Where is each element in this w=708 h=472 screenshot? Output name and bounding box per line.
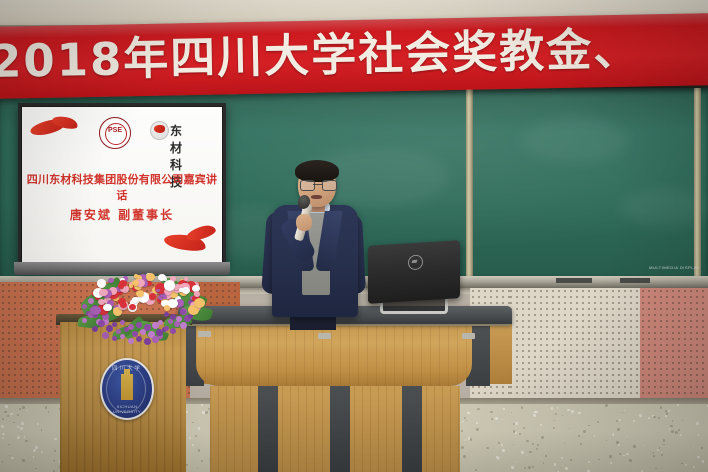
floor-speckle: [616, 420, 618, 422]
floor-speckle: [22, 459, 25, 462]
floor-speckle: [463, 455, 466, 458]
chalkboard-smudge: [520, 118, 630, 163]
floor-speckle: [554, 463, 556, 465]
floor-speckle: [192, 444, 194, 446]
floor-speckle: [461, 430, 462, 431]
floor-speckle: [33, 449, 36, 452]
floor-speckle: [519, 433, 521, 435]
floor-speckle: [465, 439, 467, 441]
floor-speckle: [201, 460, 203, 462]
bouquet-orchid: [92, 326, 98, 332]
floor-speckle: [677, 404, 679, 406]
floor-speckle: [698, 434, 699, 435]
floor-speckle: [561, 457, 563, 459]
floor-speckle: [580, 443, 582, 445]
floor-speckle: [663, 444, 664, 445]
floor-speckle: [486, 447, 489, 450]
floor-speckle: [562, 465, 563, 466]
floor-speckle: [567, 409, 570, 412]
floor-speckle: [515, 432, 517, 434]
floor-speckle: [624, 410, 625, 411]
bouquet-orchid: [164, 326, 169, 331]
floor-speckle: [521, 451, 524, 454]
floor-speckle: [503, 408, 505, 410]
floor-speckle: [4, 411, 7, 414]
floor-speckle: [551, 407, 554, 410]
floor-speckle: [557, 407, 558, 408]
floor-speckle: [466, 420, 467, 421]
cpse-seal-icon: PSE: [99, 117, 131, 149]
floor-speckle: [633, 445, 636, 448]
desk-front-panel: [196, 324, 472, 386]
bouquet-flower: [118, 283, 125, 289]
floor-speckle: [633, 420, 636, 423]
floor-speckle: [653, 452, 654, 453]
floor-speckle: [626, 453, 629, 456]
floor-speckle: [653, 416, 655, 418]
bouquet-orchid: [176, 316, 182, 322]
floor-speckle: [41, 451, 43, 453]
emblem-english-text: SICHUAN UNIVERSITY: [102, 404, 152, 414]
bouquet-flower: [194, 291, 200, 297]
chalkboard-seam-left: [466, 88, 473, 280]
floor-speckle: [570, 459, 572, 461]
bouquet-flower: [98, 299, 105, 305]
floor-speckle: [532, 443, 535, 446]
floor-speckle: [45, 406, 48, 409]
floor-speckle: [594, 435, 596, 437]
floor-speckle: [598, 459, 599, 460]
floor-speckle: [657, 449, 659, 451]
floor-speckle: [588, 461, 590, 463]
floor-speckle: [672, 420, 673, 421]
floor-speckle: [565, 467, 568, 470]
floor-speckle: [648, 417, 650, 419]
bouquet-orchid: [144, 338, 151, 345]
floor-speckle: [461, 446, 464, 449]
floor-speckle: [701, 447, 703, 449]
floor-speckle: [497, 457, 500, 460]
floor-speckle: [535, 411, 538, 414]
floor-speckle: [613, 433, 614, 434]
floor-speckle: [26, 410, 27, 411]
floor-speckle: [597, 421, 599, 423]
floor-speckle: [11, 457, 14, 460]
floor-speckle: [681, 463, 682, 464]
floral-arrangement: [78, 264, 206, 339]
floor-speckle: [605, 404, 608, 407]
dell-logo-icon: [408, 254, 423, 270]
floor-speckle: [1, 425, 4, 428]
floor-speckle: [25, 440, 27, 442]
floor-speckle: [680, 434, 682, 436]
floor-speckle: [189, 437, 191, 439]
floor-speckle: [498, 442, 500, 444]
floor-speckle: [195, 435, 197, 437]
floor-speckle: [9, 455, 10, 456]
floor-speckle: [524, 467, 527, 470]
bouquet-orchid: [152, 336, 159, 343]
floor-speckle: [35, 468, 36, 469]
bouquet-flower: [149, 293, 156, 300]
floor-speckle: [569, 428, 570, 429]
acoustic-panel-salmon: [640, 288, 708, 400]
bouquet-flower: [146, 273, 155, 281]
floor-speckle: [516, 462, 517, 463]
bouquet-flower: [136, 290, 144, 297]
floor-speckle: [545, 449, 546, 450]
bouquet-orchid: [136, 336, 142, 342]
floor-speckle: [639, 414, 642, 417]
floor-speckle: [2, 437, 4, 439]
floor-speckle: [669, 428, 670, 429]
floor-speckle: [670, 425, 672, 427]
glasses-icon: [300, 180, 335, 189]
floor-speckle: [626, 436, 627, 437]
floor-speckle: [685, 464, 687, 466]
floor-speckle: [537, 444, 539, 446]
bouquet-orchid: [82, 304, 87, 309]
floor-speckle: [2, 433, 5, 436]
floor-speckle: [532, 466, 534, 468]
floor-speckle: [619, 453, 621, 455]
floor-speckle: [526, 440, 529, 443]
chalkboard-seam-right: [694, 88, 701, 280]
floor-speckle: [205, 411, 208, 414]
bouquet-orchid: [180, 309, 186, 315]
floor-speckle: [201, 404, 203, 406]
floor-speckle: [663, 439, 666, 442]
floor-speckle: [476, 428, 479, 431]
floor-speckle: [540, 424, 542, 426]
floor-speckle: [495, 417, 498, 420]
glasses-lens-right: [322, 180, 337, 191]
floor-speckle: [10, 413, 12, 415]
floor-speckle: [696, 422, 699, 425]
floor-speckle: [186, 464, 188, 466]
bouquet-orchid: [152, 322, 159, 329]
floor-speckle: [35, 446, 38, 449]
floor-speckle: [588, 425, 589, 426]
bouquet-orchid: [140, 329, 146, 335]
floor-speckle: [502, 449, 505, 452]
floor-speckle: [528, 466, 531, 469]
floor-speckle: [564, 443, 565, 444]
floor-speckle: [33, 456, 35, 458]
floor-speckle: [513, 430, 516, 433]
bouquet-orchid: [136, 322, 142, 328]
desk-latch-right: [462, 333, 475, 339]
floor-speckle: [17, 426, 19, 428]
speaker-hair: [295, 160, 339, 182]
floor-speckle: [543, 462, 545, 464]
floor-speckle: [501, 444, 503, 446]
floor-speckle: [17, 414, 19, 416]
floor-speckle: [475, 469, 477, 471]
bouquet-orchid: [112, 322, 117, 327]
floor-speckle: [470, 438, 473, 441]
floor-speckle: [658, 417, 660, 419]
bouquet-orchid: [112, 336, 117, 341]
floor-speckle: [513, 444, 514, 445]
bouquet-orchid: [168, 319, 173, 324]
bouquet-orchid: [170, 328, 176, 334]
floor-speckle: [2, 418, 4, 420]
cpse-seal-label: PSE: [100, 127, 130, 134]
floor-speckle: [536, 448, 538, 450]
floor-speckle: [37, 423, 39, 425]
floor-speckle: [617, 428, 619, 430]
bouquet-flower: [132, 280, 139, 287]
rail-clip-2: [620, 278, 650, 283]
bouquet-flower: [194, 298, 206, 308]
floor-speckle: [668, 410, 670, 412]
floor-speckle: [682, 420, 683, 421]
display-bezel-label: MULTIMEDIA DISPLAY: [649, 265, 700, 270]
floor-speckle: [618, 444, 620, 446]
floor-speckle: [462, 421, 463, 422]
floor-speckle: [19, 408, 21, 410]
lecture-hall-photo: 2018年四川大学社会奖教金、 PSE 东材科技 四川东材科技集团股份有限公司嘉…: [0, 0, 708, 472]
acoustic-panel-cream: [508, 288, 640, 400]
floor-speckle: [21, 422, 24, 425]
bouquet-flower: [132, 297, 138, 302]
emblem-tower-icon: [121, 374, 133, 400]
floor-speckle: [502, 419, 503, 420]
floor-speckle: [571, 410, 574, 413]
floor-speckle: [13, 422, 15, 424]
floor-speckle: [678, 429, 680, 431]
presentation-slide: PSE 东材科技 四川东材科技集团股份有限公司嘉宾讲话 唐安斌 副董事长: [22, 107, 222, 264]
banner-text: 2018年四川大学社会奖教金、: [0, 16, 708, 93]
floor-speckle: [529, 451, 532, 454]
bouquet-orchid: [164, 312, 169, 317]
floor-speckle: [675, 431, 678, 434]
floor-speckle: [616, 441, 619, 444]
dongcai-roundel-icon: [150, 121, 169, 140]
floor-speckle: [24, 436, 25, 437]
bouquet-orchid: [82, 318, 87, 323]
desk-base-strut-1: [258, 386, 278, 472]
floor-speckle: [8, 444, 10, 446]
floor-speckle: [523, 427, 525, 429]
floor-speckle: [541, 458, 543, 460]
sichuan-university-emblem: 四川大学 SICHUAN UNIVERSITY: [100, 358, 154, 420]
floor-speckle: [619, 419, 621, 421]
floor-speckle: [192, 422, 194, 424]
floor-speckle: [697, 456, 700, 459]
floor-speckle: [198, 449, 201, 452]
floor-speckle: [623, 455, 625, 457]
floor-speckle: [54, 438, 56, 440]
floor-speckle: [515, 422, 518, 425]
floor-speckle: [606, 440, 607, 441]
speaker-hand: [296, 214, 312, 231]
floor-speckle: [665, 415, 667, 417]
floor-speckle: [545, 455, 546, 456]
floor-speckle: [655, 468, 656, 469]
floor-speckle: [476, 422, 478, 424]
floor-speckle: [534, 411, 535, 412]
floor-speckle: [477, 408, 479, 410]
glasses-lens-left: [300, 180, 315, 191]
bouquet-flower: [182, 287, 190, 294]
bouquet-orchid: [120, 334, 125, 339]
floor-speckle: [511, 412, 512, 413]
floor-speckle: [467, 412, 469, 414]
floor-speckle: [562, 415, 563, 416]
floor-speckle: [511, 466, 513, 468]
bouquet-flower: [120, 302, 127, 308]
desk-latch-center: [318, 333, 331, 339]
floor-speckle: [629, 459, 632, 462]
floor-speckle: [17, 436, 20, 439]
floor-speckle: [641, 470, 643, 472]
floor-speckle: [610, 462, 612, 464]
floor-speckle: [53, 461, 54, 462]
floor-speckle: [643, 445, 645, 447]
floor-speckle: [21, 433, 22, 434]
floor-speckle: [555, 413, 557, 415]
event-banner: 2018年四川大学社会奖教金、: [0, 13, 708, 99]
floor-speckle: [5, 405, 7, 407]
bouquet-orchid: [180, 322, 187, 329]
bouquet-flower: [164, 305, 171, 311]
slide-subheading: 唐安斌 副董事长: [22, 206, 222, 223]
desk-base-strut-3: [402, 386, 422, 472]
floor-speckle: [661, 454, 663, 456]
bouquet-orchid: [88, 298, 94, 304]
floor-speckle: [660, 406, 662, 408]
floor-speckle: [490, 411, 493, 414]
floor-speckle: [526, 455, 527, 456]
floor-speckle: [702, 460, 704, 462]
floor-speckle: [198, 427, 200, 429]
bouquet-orchid: [156, 329, 163, 336]
desk-base-strut-2: [330, 386, 350, 472]
speaker-mouth: [311, 195, 322, 199]
slide-logo-row: PSE 东材科技: [22, 111, 222, 147]
floor-speckle: [533, 414, 536, 417]
bouquet-orchid: [102, 332, 109, 339]
bouquet-orchid: [120, 320, 125, 325]
floor-speckle: [622, 412, 623, 413]
floor-speckle: [54, 450, 56, 452]
floor-speckle: [20, 427, 23, 430]
floor-speckle: [609, 455, 612, 458]
floor-speckle: [2, 461, 3, 462]
floor-speckle: [693, 466, 695, 468]
floor-speckle: [22, 406, 25, 409]
floor-speckle: [521, 406, 524, 409]
floor-speckle: [553, 427, 555, 429]
floor-speckle: [554, 420, 555, 421]
floor-speckle: [578, 412, 580, 414]
floor-speckle: [541, 436, 543, 438]
floor-speckle: [197, 468, 198, 469]
floor-speckle: [48, 411, 50, 413]
floor-speckle: [671, 430, 674, 433]
bouquet-orchid: [116, 329, 121, 334]
bouquet-orchid: [124, 327, 129, 332]
bouquet-orchid: [98, 320, 105, 327]
floor-speckle: [7, 415, 9, 417]
floor-speckle: [578, 435, 580, 437]
monitor[interactable]: [368, 240, 460, 304]
rail-clip-1: [556, 278, 592, 283]
floor-speckle: [653, 455, 655, 457]
glasses-bridge: [313, 184, 322, 185]
floor-speckle: [583, 430, 586, 433]
bouquet-orchid: [128, 338, 134, 344]
floor-speckle: [41, 429, 42, 430]
floor-speckle: [693, 446, 694, 447]
slide-heading: 四川东材科技集团股份有限公司嘉宾讲话: [22, 171, 222, 203]
floor-speckle: [491, 418, 494, 421]
